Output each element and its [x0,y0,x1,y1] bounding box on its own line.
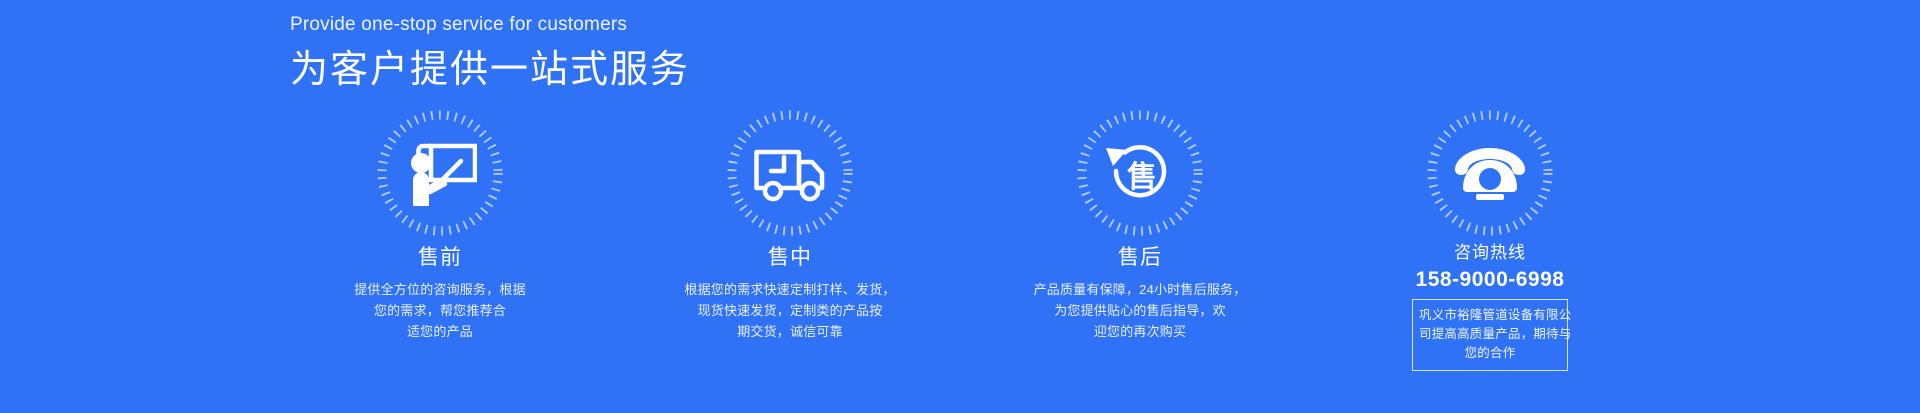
company-note-box: 巩义市裕隆管道设备有限公 司提高高质量产品，期待与 您的合作 [1412,299,1568,371]
insale-description: 根据您的需求快速定制打样、发货， 现货快速发货，定制类的产品按 期交货，诚信可靠 [670,279,910,342]
hotline-label: 咨询热线 [1370,242,1610,264]
delivery-truck-clock-icon [725,108,855,238]
insale-icon-wrap [725,108,855,238]
presale-title: 售前 [320,244,560,271]
service-column-presale: 售前 提供全方位的咨询服务，根据 您的需求，帮您推荐合 适您的产品 [320,108,560,371]
company-note-line-3: 您的合作 [1419,344,1561,363]
aftersale-title: 售后 [1020,244,1260,271]
insale-desc-line-2: 现货快速发货，定制类的产品按 [670,300,910,321]
service-column-hotline: 咨询热线 158-9000-6998 巩义市裕隆管道设备有限公 司提高高质量产品… [1370,108,1610,371]
presenter-whiteboard-icon [375,108,505,238]
telephone-icon [1425,108,1555,238]
banner-heading: Provide one-stop service for customers 为… [290,14,690,94]
presale-description: 提供全方位的咨询服务，根据 您的需求，帮您推荐合 适您的产品 [320,279,560,342]
service-column-aftersale: 售 售后 产品质量有保障，24小时售后服务， 为您提供贴心的售后指导，欢 迎您的… [1020,108,1260,371]
presale-desc-line-1: 提供全方位的咨询服务，根据 [320,279,560,300]
aftersale-icon-wrap: 售 [1075,108,1205,238]
aftersale-desc-line-2: 为您提供贴心的售后指导，欢 [1020,300,1260,321]
hotline-number[interactable]: 158-9000-6998 [1370,266,1610,293]
insale-desc-line-3: 期交货，诚信可靠 [670,321,910,342]
insale-desc-line-1: 根据您的需求快速定制打样、发货， [670,279,910,300]
company-note-line-2: 司提高高质量产品，期待与 [1419,325,1561,344]
heading-chinese: 为客户提供一站式服务 [290,47,690,95]
aftersale-desc-line-1: 产品质量有保障，24小时售后服务， [1020,279,1260,300]
company-note-line-1: 巩义市裕隆管道设备有限公 [1419,306,1561,325]
aftersale-icon-text: 售 [1127,161,1157,194]
insale-title: 售中 [670,244,910,271]
aftersale-desc-line-3: 迎您的再次购买 [1020,321,1260,342]
heading-english: Provide one-stop service for customers [290,14,690,37]
service-banner: Provide one-stop service for customers 为… [0,0,1920,413]
presale-icon-wrap [375,108,505,238]
after-sales-return-arrow-icon: 售 [1075,108,1205,238]
service-columns: 售前 提供全方位的咨询服务，根据 您的需求，帮您推荐合 适您的产品 [0,108,1920,371]
aftersale-description: 产品质量有保障，24小时售后服务， 为您提供贴心的售后指导，欢 迎您的再次购买 [1020,279,1260,342]
presale-desc-line-2: 您的需求，帮您推荐合 [320,300,560,321]
hotline-icon-wrap [1425,108,1555,238]
service-column-insale: 售中 根据您的需求快速定制打样、发货， 现货快速发货，定制类的产品按 期交货，诚… [670,108,910,371]
presale-desc-line-3: 适您的产品 [320,321,560,342]
